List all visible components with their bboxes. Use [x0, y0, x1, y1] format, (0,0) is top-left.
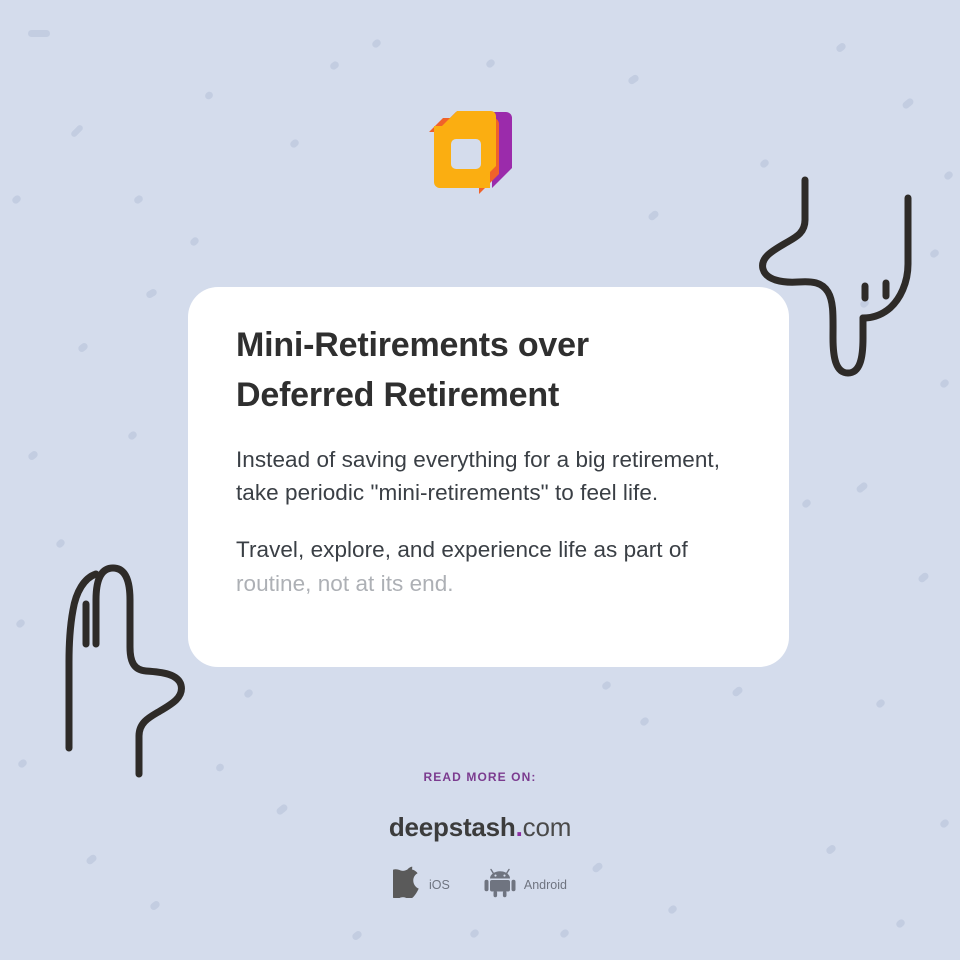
confetti-dash [127, 430, 138, 441]
confetti-dash [875, 698, 886, 709]
confetti-dash [855, 481, 869, 494]
card-paragraph-2-faded-tail: routine, not at its end. [236, 571, 454, 596]
card-paragraph-1: Instead of saving everything for a big r… [236, 443, 766, 510]
confetti-dash [55, 538, 66, 549]
store-badge-ios[interactable]: iOS [393, 866, 450, 903]
brand-tld: com [523, 812, 572, 842]
confetti-dash [70, 124, 84, 138]
android-icon [484, 866, 516, 903]
confetti-dash [204, 90, 215, 101]
poster-canvas: Mini-Retirements over Deferred Retiremen… [0, 0, 960, 960]
apple-icon [393, 866, 421, 903]
store-badges: iOS [0, 866, 960, 903]
confetti-dash [289, 138, 300, 149]
confetti-dash [647, 209, 660, 221]
confetti-dash [351, 930, 363, 942]
card-paragraph-2-text: Travel, explore, and experience life as … [236, 537, 688, 562]
confetti-dash [559, 928, 570, 939]
confetti-dash [133, 194, 144, 205]
confetti-dash [731, 685, 744, 697]
store-label-android: Android [524, 878, 567, 892]
confetti-dash [485, 58, 496, 69]
confetti-dash [243, 688, 254, 699]
confetti-dash [371, 38, 382, 49]
confetti-dash [825, 844, 837, 856]
idea-card: Mini-Retirements over Deferred Retiremen… [188, 287, 789, 667]
confetti-dash [667, 904, 678, 915]
confetti-dash [901, 97, 915, 110]
store-badge-android[interactable]: Android [484, 866, 567, 903]
brand-dot: . [516, 812, 523, 842]
confetti-dash [835, 42, 847, 54]
confetti-dash [895, 918, 906, 929]
page-title: Mini-Retirements over Deferred Retiremen… [236, 320, 656, 421]
confetti-dash [85, 853, 98, 865]
confetti-dash [801, 498, 812, 509]
confetti-dash [627, 73, 640, 85]
confetti-dash [189, 236, 200, 247]
confetti-dash [11, 194, 22, 205]
brand-name: deepstash [389, 812, 516, 842]
confetti-dash [601, 680, 612, 691]
confetti-dash [329, 60, 340, 71]
confetti-dash [28, 30, 50, 37]
brand-wordmark: deepstash.com [0, 812, 960, 843]
card-paragraph-2: Travel, explore, and experience life as … [236, 533, 766, 600]
confetti-dash [77, 342, 89, 354]
confetti-dash [27, 450, 39, 462]
deepstash-logo [428, 104, 520, 196]
store-label-ios: iOS [429, 878, 450, 892]
confetti-dash [639, 716, 650, 727]
read-more-label: READ MORE ON: [0, 770, 960, 784]
confetti-dash [917, 571, 930, 583]
card-content: Mini-Retirements over Deferred Retiremen… [236, 320, 766, 600]
confetti-dash [469, 928, 480, 939]
confetti-dash [145, 288, 158, 300]
